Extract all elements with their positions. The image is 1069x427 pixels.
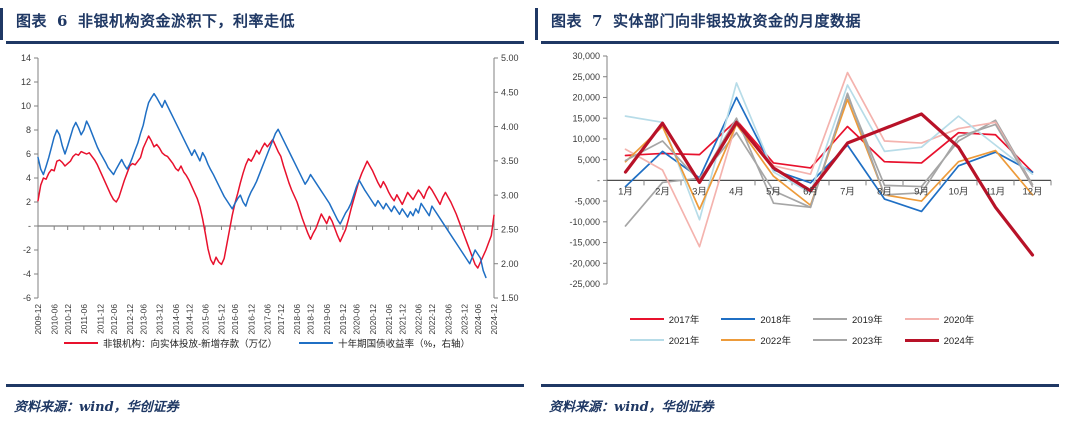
chart7-legend-label: 2021年 <box>669 333 700 347</box>
chart7-xtick: 4月 <box>729 186 744 197</box>
chart6-ytick-left: -2 <box>23 245 31 255</box>
chart6-ytick-right: 3.50 <box>501 156 519 166</box>
chart7-ytick: 25,000 <box>572 72 600 82</box>
accent-bar-left <box>0 8 3 40</box>
chart7-legend-swatch <box>905 318 939 320</box>
chart7-ytick: 10,000 <box>572 134 600 144</box>
chart6-ytick-right: 4.00 <box>501 122 519 132</box>
chart6-xtick: 2016-12 <box>246 304 256 335</box>
chart6-plot-area: 1412108642--2-4-65.004.504.003.503.002.5… <box>0 44 534 374</box>
chart6-xtick: 2020-12 <box>368 304 378 335</box>
chart6-legend-label: 非银机构：向实体投放-新增存款（万亿） <box>103 336 277 350</box>
chart7-legend: 2017年2018年2019年2020年2021年2022年2023年2024年 <box>535 312 1069 347</box>
chart7-legend-item[interactable]: 2020年 <box>905 312 975 326</box>
chart7-plot-area: 30,00025,00020,00015,00010,0005,000--5,0… <box>535 44 1069 374</box>
chart6-legend-item[interactable]: 非银机构：向实体投放-新增存款（万亿） <box>64 336 277 350</box>
chart7-ytick: 20,000 <box>572 93 600 103</box>
chart7-legend-row: 2021年2022年2023年2024年 <box>535 333 1069 347</box>
chart6-ytick-left: 4 <box>26 173 31 183</box>
chart6-legend: 非银机构：向实体投放-新增存款（万亿）十年期国债收益率（%，右轴） <box>0 336 534 350</box>
chart7-ytick: - <box>597 176 600 186</box>
source-rule-left <box>6 384 524 387</box>
chart7-xtick: 2月 <box>655 186 670 197</box>
chart7-series-2023年 <box>626 93 1033 207</box>
figure-title-text-chart6: 非银机构资金淤积下，利率走低 <box>78 12 295 30</box>
chart6-xtick: 2018-12 <box>306 304 316 335</box>
chart7-legend-label: 2022年 <box>760 333 791 347</box>
chart6-svg: 1412108642--2-4-65.004.504.003.503.002.5… <box>0 44 534 374</box>
chart7-legend-swatch <box>813 339 847 341</box>
chart6-ytick-left: 12 <box>21 77 31 87</box>
chart6-xtick: 2022-06 <box>414 304 424 335</box>
figure-pair-container: 图表6非银机构资金淤积下，利率走低 1412108642--2-4-65.004… <box>0 0 1069 427</box>
chart7-legend-label: 2019年 <box>852 312 883 326</box>
chart6-legend-label: 十年期国债收益率（%，右轴） <box>338 336 470 350</box>
figure-number-chart6: 6 <box>57 12 68 30</box>
chart6-xtick: 2021-12 <box>397 304 407 335</box>
accent-bar-right <box>535 8 538 40</box>
chart7-legend-item[interactable]: 2023年 <box>813 333 883 347</box>
chart6-ytick-left: 2 <box>26 197 31 207</box>
chart7-legend-item[interactable]: 2017年 <box>630 312 700 326</box>
chart6-legend-item[interactable]: 十年期国债收益率（%，右轴） <box>299 336 470 350</box>
chart6-xtick: 2019-12 <box>338 304 348 335</box>
chart6-xtick: 2021-06 <box>384 304 394 335</box>
chart7-legend-label: 2023年 <box>852 333 883 347</box>
figure-panel-chart7: 图表7实体部门向非银投放资金的月度数据 30,00025,00020,00015… <box>535 0 1069 427</box>
source-text-chart7: 资料来源：wind，华创证券 <box>549 396 714 415</box>
chart7-ytick: 5,000 <box>577 155 600 165</box>
chart6-xtick: 2014-12 <box>184 304 194 335</box>
chart6-ytick-right: 4.50 <box>501 87 519 97</box>
chart6-series-2 <box>38 94 486 278</box>
chart7-xtick: 12月 <box>1022 186 1042 197</box>
chart7-xtick: 5月 <box>766 186 781 197</box>
chart7-legend-item[interactable]: 2021年 <box>630 333 700 347</box>
chart6-xtick: 2013-06 <box>138 304 148 335</box>
figure-label-chart6: 图表 <box>16 12 47 30</box>
chart6-xtick: 2018-06 <box>292 304 302 335</box>
chart7-legend-label: 2018年 <box>760 312 791 326</box>
chart7-legend-item[interactable]: 2024年 <box>905 333 975 347</box>
chart6-xtick: 2024-06 <box>473 304 483 335</box>
chart7-xtick: 10月 <box>948 186 968 197</box>
chart7-legend-swatch <box>721 318 755 320</box>
chart7-legend-swatch <box>630 339 664 341</box>
chart6-xtick: 2015-12 <box>217 304 227 335</box>
chart6-xtick: 2012-12 <box>125 304 135 335</box>
chart7-legend-swatch <box>905 339 939 342</box>
chart7-legend-swatch <box>721 339 755 341</box>
chart6-xtick: 2023-12 <box>460 304 470 335</box>
figure-title-chart7: 图表7实体部门向非银投放资金的月度数据 <box>551 10 861 31</box>
figure-title-text-chart7: 实体部门向非银投放资金的月度数据 <box>613 12 861 30</box>
chart7-legend-item[interactable]: 2019年 <box>813 312 883 326</box>
chart6-ytick-left: -6 <box>23 293 31 303</box>
chart6-ytick-right: 1.50 <box>501 293 519 303</box>
chart7-ytick: 30,000 <box>572 51 600 61</box>
chart7-ytick: -20,000 <box>569 258 600 268</box>
chart6-ytick-right: 2.50 <box>501 225 519 235</box>
chart7-legend-label: 2017年 <box>669 312 700 326</box>
figure-title-chart6: 图表6非银机构资金淤积下，利率走低 <box>16 10 295 31</box>
chart7-ytick: -10,000 <box>569 217 600 227</box>
chart6-ytick-left: 6 <box>26 149 31 159</box>
source-rule-right <box>541 384 1059 387</box>
chart7-xtick: 11月 <box>986 186 1005 197</box>
figure-number-chart7: 7 <box>592 12 603 30</box>
chart7-legend-label: 2020年 <box>944 312 975 326</box>
chart6-xtick: 2011-12 <box>95 304 105 334</box>
chart6-xtick: 2009-12 <box>33 304 43 335</box>
chart6-xtick: 2019-06 <box>322 304 332 335</box>
chart6-xtick: 2011-06 <box>79 304 89 334</box>
chart7-legend-item[interactable]: 2018年 <box>721 312 791 326</box>
chart6-xtick: 2022-12 <box>427 304 437 335</box>
chart6-xtick: 2012-06 <box>109 304 119 335</box>
chart6-xtick: 2013-12 <box>155 304 165 335</box>
chart7-ytick: -5,000 <box>574 196 600 206</box>
chart7-xtick: 6月 <box>803 186 818 197</box>
chart7-legend-swatch <box>813 318 847 320</box>
chart6-xtick: 2010-06 <box>49 304 59 335</box>
chart6-legend-swatch <box>299 342 333 344</box>
chart6-ytick-right: 5.00 <box>501 53 519 63</box>
chart6-ytick-left: -4 <box>23 269 31 279</box>
chart6-ytick-left: 10 <box>21 101 31 111</box>
chart7-xtick: 1月 <box>618 186 633 197</box>
chart6-xtick: 2024-12 <box>489 304 499 335</box>
chart6-xtick: 2017-12 <box>276 304 286 335</box>
chart6-xtick: 2023-06 <box>443 304 453 335</box>
chart7-xtick: 7月 <box>840 186 855 197</box>
figure-panel-chart6: 图表6非银机构资金淤积下，利率走低 1412108642--2-4-65.004… <box>0 0 534 427</box>
chart7-xtick: 9月 <box>914 186 929 197</box>
chart6-xtick: 2014-06 <box>171 304 181 335</box>
chart6-legend-swatch <box>64 342 98 344</box>
chart7-legend-row: 2017年2018年2019年2020年 <box>535 312 1069 326</box>
chart6-ytick-left: 8 <box>26 125 31 135</box>
source-text-chart6: 资料来源：wind，华创证券 <box>14 396 179 415</box>
chart6-ytick-left: 14 <box>21 53 31 63</box>
chart7-legend-swatch <box>630 318 664 320</box>
chart7-xtick: 8月 <box>877 186 892 197</box>
chart6-xtick: 2010-12 <box>63 304 73 335</box>
chart6-ytick-left: - <box>28 221 31 231</box>
chart7-legend-item[interactable]: 2022年 <box>721 333 791 347</box>
figure-label-chart7: 图表 <box>551 12 582 30</box>
chart6-xtick: 2017-06 <box>263 304 273 335</box>
chart6-ytick-right: 3.00 <box>501 190 519 200</box>
chart6-ytick-right: 2.00 <box>501 259 519 269</box>
chart6-xtick: 2016-06 <box>230 304 240 335</box>
chart6-xtick: 2015-06 <box>200 304 210 335</box>
chart7-ytick: -15,000 <box>569 238 600 248</box>
chart7-xtick: 3月 <box>692 186 707 197</box>
chart7-ytick: -25,000 <box>569 279 600 289</box>
chart7-legend-label: 2024年 <box>944 333 975 347</box>
chart6-xtick: 2020-06 <box>352 304 362 335</box>
chart7-ytick: 15,000 <box>572 113 600 123</box>
